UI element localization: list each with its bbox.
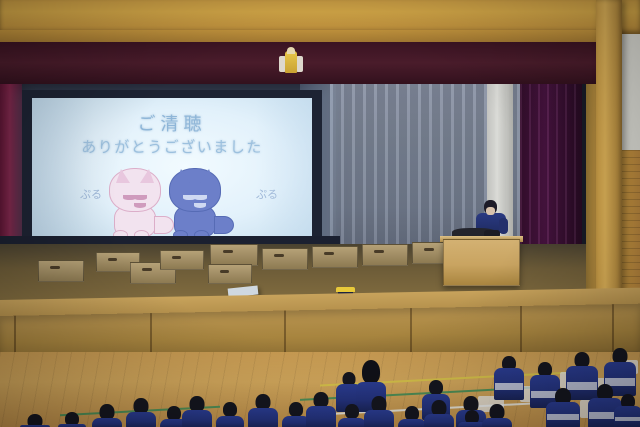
slide-subheading: ありがとうございました [32,136,312,157]
blue-cat-head [169,168,221,212]
list-item [494,356,524,400]
wooden-riser-box [208,264,252,284]
list-item [424,400,454,427]
motion-mark-left: ぷる [80,190,102,201]
projection-screen: ご清聴 ありがとうございました [32,98,312,250]
list-item [614,394,640,427]
wooden-riser-box [312,246,358,268]
list-item [92,404,122,427]
blue-cat-ear-left [176,169,190,183]
list-item [546,388,580,427]
list-item [338,404,366,427]
crest-wing-right [296,56,303,72]
pink-cat-eye-right [134,195,147,200]
wooden-riser-box [160,250,204,270]
motion-mark-right: ぷる [256,190,278,201]
speaker-face [486,207,495,215]
speaker-arm [499,218,508,234]
list-item [20,414,50,427]
list-item [248,394,278,427]
list-item [126,398,156,427]
blue-cat-icon [164,160,226,244]
blue-cat-eye-right [194,195,207,200]
blue-cat-tail [214,216,234,234]
crest-top [287,47,295,54]
blue-cat-ear-right [200,169,214,183]
list-item [306,392,336,427]
list-item [364,396,394,427]
speaker-podium [443,239,520,286]
gymnasium-assembly-photo: ご清聴 ありがとうございました [0,0,640,427]
list-item [398,406,426,427]
wooden-riser-box [362,244,408,266]
pink-cat-ear-left [116,169,130,183]
list-item [216,402,244,427]
slide-cat-illustration [98,160,246,246]
list-item [482,404,512,427]
list-item [182,396,212,427]
wooden-riser-box [262,248,308,270]
pink-cat-mouth [134,203,146,208]
list-item [58,412,86,427]
school-crest-emblem-icon [279,47,303,77]
pink-cat-head [109,168,161,212]
wooden-riser-box [38,260,84,282]
slide-heading: ご清聴 [32,110,312,136]
pink-cat-ear-right [140,169,154,183]
stage-wooden-pillar [596,0,622,314]
blue-cat-mouth [194,203,206,208]
pink-cat-icon [104,160,166,244]
wooden-riser-box [210,244,258,266]
stage-valance [0,42,610,88]
wooden-ceiling-beam [0,0,640,34]
crest-body [285,51,297,73]
